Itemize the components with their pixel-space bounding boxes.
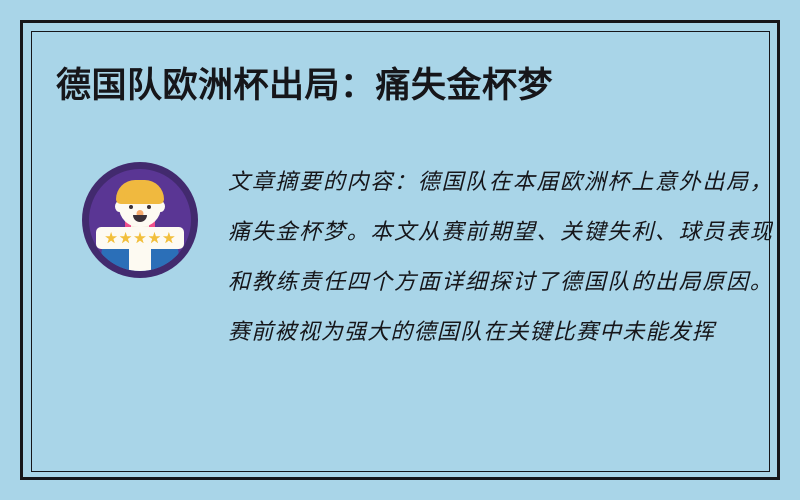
star-icon: ★	[148, 231, 161, 246]
avatar-eye-right-icon	[147, 205, 151, 209]
avatar-eye-left-icon	[129, 205, 133, 209]
avatar-star-rating-banner: ★ ★ ★ ★ ★	[96, 227, 184, 249]
star-icon: ★	[133, 231, 146, 246]
content-area: ★ ★ ★ ★ ★ 文章摘要的内容：德国队在本届欧洲杯上意外出局，痛失金杯梦。本…	[0, 150, 800, 410]
star-icon: ★	[119, 231, 132, 246]
avatar-disc: ★ ★ ★ ★ ★	[89, 169, 191, 271]
star-icon: ★	[162, 231, 175, 246]
article-summary-text: 文章摘要的内容：德国队在本届欧洲杯上意外出局，痛失金杯梦。本文从赛前期望、关键失…	[228, 158, 773, 408]
avatar: ★ ★ ★ ★ ★	[82, 162, 198, 278]
page-title: 德国队欧洲杯出局：痛失金杯梦	[56, 63, 756, 109]
avatar-hair-icon	[116, 180, 164, 204]
star-icon: ★	[104, 231, 117, 246]
poster-card: 德国队欧洲杯出局：痛失金杯梦	[0, 0, 800, 500]
